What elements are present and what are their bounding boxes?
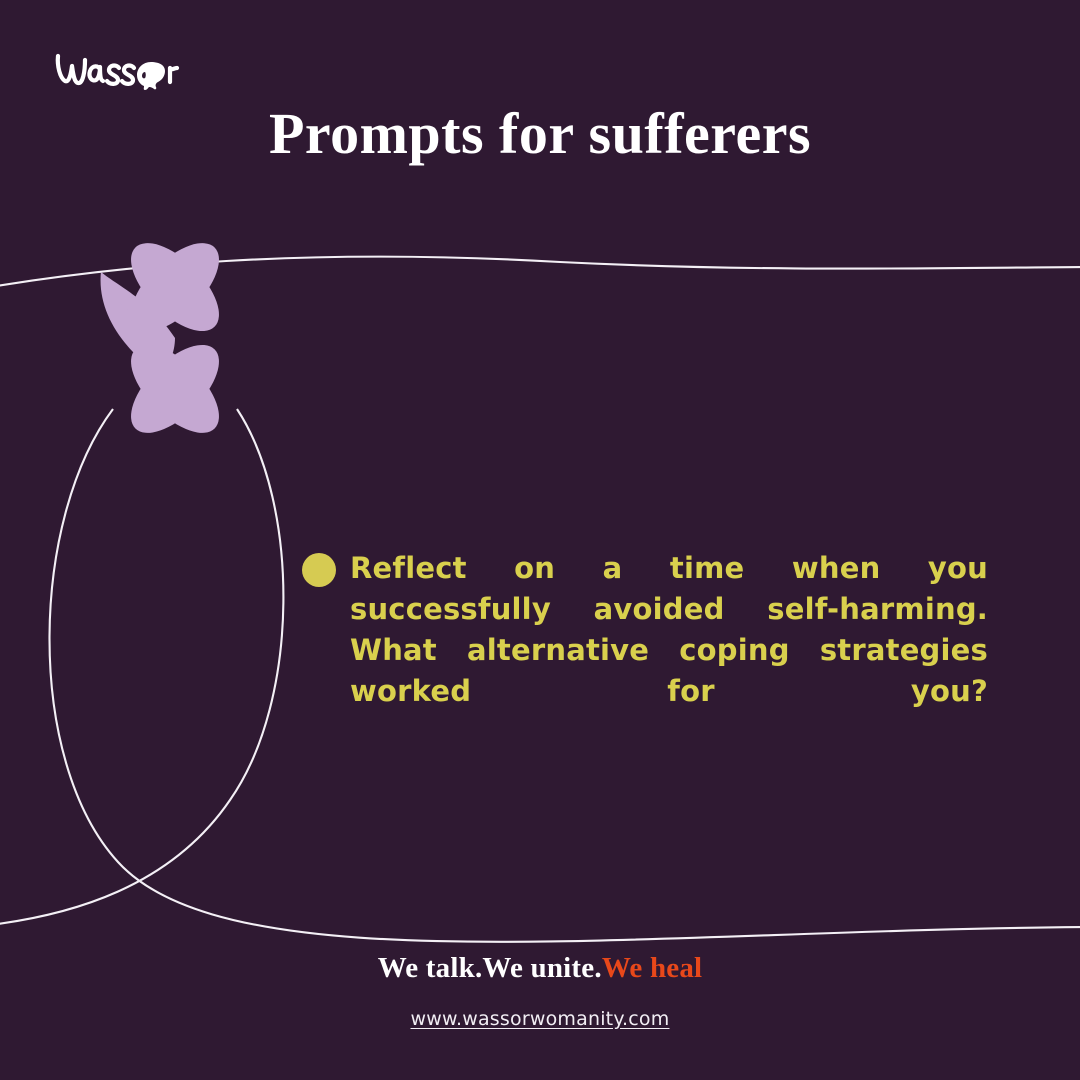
- poster-canvas: Prompts for sufferers Reflect on a time …: [0, 0, 1080, 1080]
- tagline-accent: We heal: [602, 952, 702, 984]
- prompt-list-item: Reflect on a time when you successfully …: [302, 548, 988, 753]
- tagline-primary: We talk.We unite.: [378, 952, 602, 984]
- flower-petal-top-left-body: [101, 272, 175, 369]
- flower-petal-top-left: [101, 272, 175, 359]
- logo-wordmark-right: [170, 68, 177, 82]
- woman-head-silhouette-icon: [137, 62, 165, 90]
- top-sweeping-arc-curve: [0, 257, 1080, 287]
- flower-petal-ne: [116, 228, 233, 345]
- dot-bullet-icon: [302, 553, 336, 587]
- left-lens-curve-inner: [0, 409, 283, 925]
- flower-petal-nw: [116, 228, 233, 345]
- page-title: Prompts for sufferers: [0, 104, 1080, 165]
- tagline: We talk.We unite.We heal: [0, 952, 1080, 985]
- prompt-text: Reflect on a time when you successfully …: [350, 548, 988, 753]
- website-url-link[interactable]: www.wassorwomanity.com: [0, 1008, 1080, 1030]
- flower-petal-se: [116, 330, 233, 447]
- brand-logo[interactable]: [52, 40, 182, 92]
- four-petal-flower-icon: [101, 228, 234, 447]
- logo-wordmark-left: [58, 56, 134, 84]
- flower-petal-sw: [116, 330, 233, 447]
